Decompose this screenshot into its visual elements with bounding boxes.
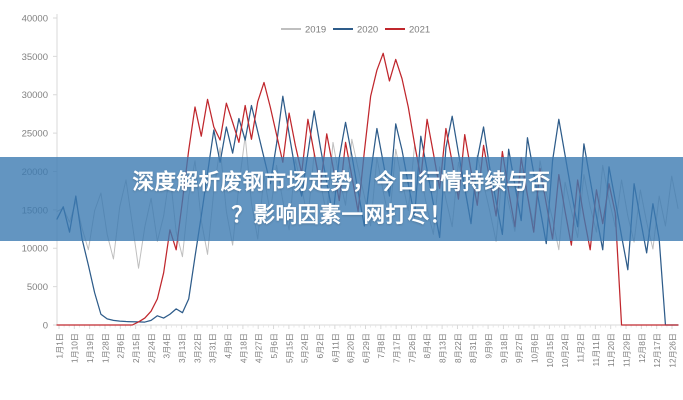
x-axis-tick-label: 8月31日 [469,333,478,363]
x-axis-tick-label: 11月11日 [592,333,601,366]
x-axis-tick-label: 9月18日 [500,333,509,363]
legend-label-2021: 2021 [409,25,430,36]
x-axis-tick-label: 4月27日 [255,333,264,363]
x-axis-tick-label: 8月13日 [439,333,448,363]
x-axis-tick-label: 5月15日 [285,333,294,363]
x-axis-tick-label: 8月22日 [454,333,463,363]
y-axis-tick-label: 10000 [22,244,48,255]
chart-legend: 201920202021 [281,25,430,36]
x-axis-tick-label: 10月6日 [530,333,539,363]
x-axis: 1月1日1月10日1月19日1月28日2月6日2月15日2月24日3月4日3月1… [55,325,678,368]
y-axis-tick-label: 25000 [22,129,48,140]
x-axis-tick-label: 5月24日 [301,333,310,363]
x-axis-tick-label: 1月19日 [86,333,95,363]
x-axis-tick-label: 6月20日 [347,333,356,363]
y-axis-tick-label: 40000 [22,13,48,24]
legend-label-2019: 2019 [305,25,326,36]
x-axis-tick-label: 6月11日 [331,333,340,362]
x-axis-tick-label: 10月15日 [546,333,555,368]
x-axis-tick-label: 10月24日 [561,333,570,368]
x-axis-tick-label: 3月31日 [209,333,218,363]
x-axis-tick-label: 4月9日 [224,333,233,358]
x-axis-tick-label: 6月2日 [316,333,325,358]
overlay-title-banner: 深度解析废钢市场走势，今日行情持续与否 ？影响因素一网打尽！ [0,157,683,241]
x-axis-tick-label: 2月15日 [132,333,141,363]
x-axis-tick-label: 12月8日 [638,333,647,363]
x-axis-tick-label: 7月26日 [408,333,417,363]
x-axis-tick-label: 12月17日 [653,333,662,368]
x-axis-tick-label: 9月9日 [485,333,494,358]
x-axis-tick-label: 11月2日 [576,333,585,362]
x-axis-tick-label: 4月18日 [239,333,248,363]
x-axis-tick-label: 3月4日 [163,333,172,358]
x-axis-tick-label: 9月27日 [515,333,524,363]
x-axis-tick-label: 2月6日 [117,333,126,358]
x-axis-tick-label: 7月8日 [377,333,386,358]
y-axis-tick-label: 0 [43,320,48,331]
x-axis-tick-label: 12月26日 [668,333,677,368]
y-axis-tick-label: 30000 [22,90,48,101]
overlay-headline: 深度解析废钢市场走势，今日行情持续与否 ？影响因素一网打尽！ [132,166,550,232]
chart-container: 0500010000150002000025000300003500040000… [0,0,683,400]
x-axis-tick-label: 11月20日 [607,333,616,367]
x-axis-tick-label: 6月29日 [362,333,371,363]
x-axis-tick-label: 3月22日 [193,333,202,363]
x-axis-tick-label: 8月4日 [423,333,432,358]
y-axis-tick-label: 35000 [22,52,48,63]
y-axis-tick-label: 5000 [27,282,48,293]
x-axis-tick-label: 1月28日 [101,333,110,363]
x-axis-tick-label: 5月6日 [270,333,279,358]
x-axis-tick-label: 11月29日 [622,333,631,367]
x-axis-tick-label: 1月10日 [71,333,80,363]
x-axis-tick-label: 1月1日 [55,333,64,358]
legend-label-2020: 2020 [357,25,378,36]
x-axis-tick-label: 2月24日 [147,333,156,363]
x-axis-tick-label: 7月17日 [393,333,402,363]
x-axis-tick-label: 3月13日 [178,333,187,363]
